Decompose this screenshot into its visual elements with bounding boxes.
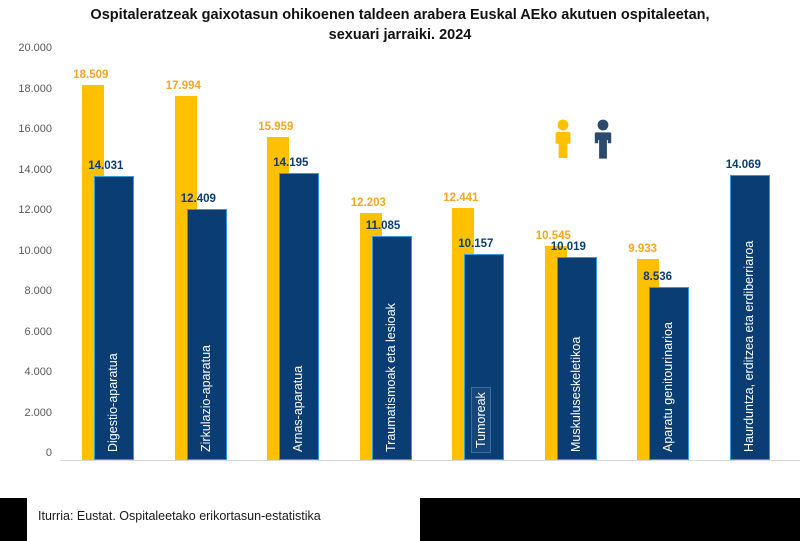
y-axis-tick: 12.000 <box>18 204 52 216</box>
bar-value-label-female: 12.441 <box>443 192 478 204</box>
chart-footer: Iturria: Eustat. Ospitaleetako erikortas… <box>0 486 800 541</box>
footer-block-left <box>0 498 27 541</box>
bar-value-label-male: 11.085 <box>366 220 401 232</box>
axis-baseline <box>60 460 800 461</box>
bar-male[interactable] <box>730 175 770 460</box>
bar-male[interactable] <box>649 287 689 460</box>
y-axis: 02.0004.0006.0008.00010.00012.00014.0001… <box>0 48 58 460</box>
y-axis-tick: 14.000 <box>18 164 52 176</box>
bar-value-label-female: 9.933 <box>628 243 657 255</box>
bar-group[interactable]: 9.9338.536Aparatu genitourinarioa <box>637 55 689 460</box>
bar-male[interactable] <box>187 209 227 460</box>
bar-value-label-male: 8.536 <box>643 271 672 283</box>
bar-male[interactable] <box>372 236 412 460</box>
bar-male[interactable] <box>557 257 597 460</box>
title-line-1: Ospitaleratzeak gaixotasun ohikoenen tal… <box>40 6 760 26</box>
bar-group[interactable]: 10.54510.019Muskuluseskeletikoa <box>545 55 597 460</box>
footer-block-right <box>420 498 800 541</box>
bar-value-label-male: 14.195 <box>273 157 308 169</box>
source-note: Iturria: Eustat. Ospitaleetako erikortas… <box>38 509 321 523</box>
bar-group[interactable]: 12.44110.157Tumoreak <box>452 55 504 460</box>
bar-male[interactable] <box>94 176 134 460</box>
bar-male[interactable] <box>464 254 504 460</box>
y-axis-tick: 10.000 <box>18 245 52 257</box>
bar-value-label-female: 18.509 <box>73 69 108 81</box>
y-axis-tick: 18.000 <box>18 83 52 95</box>
bar-value-label-male: 10.157 <box>458 238 493 250</box>
person-male-icon <box>594 119 612 164</box>
page-title: Ospitaleratzeak gaixotasun ohikoenen tal… <box>40 6 760 45</box>
bar-value-label-female: 15.959 <box>258 121 293 133</box>
y-axis-tick: 0 <box>46 447 52 459</box>
chart-legend <box>550 118 630 164</box>
y-axis-tick: 8.000 <box>24 285 52 297</box>
bar-value-label-male: 14.069 <box>726 159 761 171</box>
bar-value-label-male: 12.409 <box>181 193 216 205</box>
title-line-2: sexuari jarraiki. 2024 <box>40 26 760 46</box>
bar-value-label-male: 10.019 <box>551 241 586 253</box>
chart-plot-area: 18.50914.031Digestio-aparatua17.99412.40… <box>60 55 800 460</box>
bar-value-label-male: 14.031 <box>88 160 123 172</box>
bar-group[interactable]: 12.20311.085Traumatismoak eta lesioak <box>360 55 412 460</box>
y-axis-tick: 6.000 <box>24 326 52 338</box>
bar-male[interactable] <box>279 173 319 460</box>
y-axis-tick: 16.000 <box>18 123 52 135</box>
bar-group[interactable]: 18.50914.031Digestio-aparatua <box>82 55 134 460</box>
y-axis-tick: 4.000 <box>24 366 52 378</box>
bar-group[interactable]: 17.99412.409Zirkulazio-aparatua <box>175 55 227 460</box>
bar-group[interactable]: 15.95914.195Arnas-aparatua <box>267 55 319 460</box>
y-axis-tick: 20.000 <box>18 42 52 54</box>
bar-group[interactable]: 14.069Haurduntza, erditzea eta erdiberri… <box>730 55 782 460</box>
bar-value-label-female: 12.203 <box>351 197 386 209</box>
bar-value-label-female: 17.994 <box>166 80 201 92</box>
person-female-icon <box>554 119 572 164</box>
y-axis-tick: 2.000 <box>24 407 52 419</box>
